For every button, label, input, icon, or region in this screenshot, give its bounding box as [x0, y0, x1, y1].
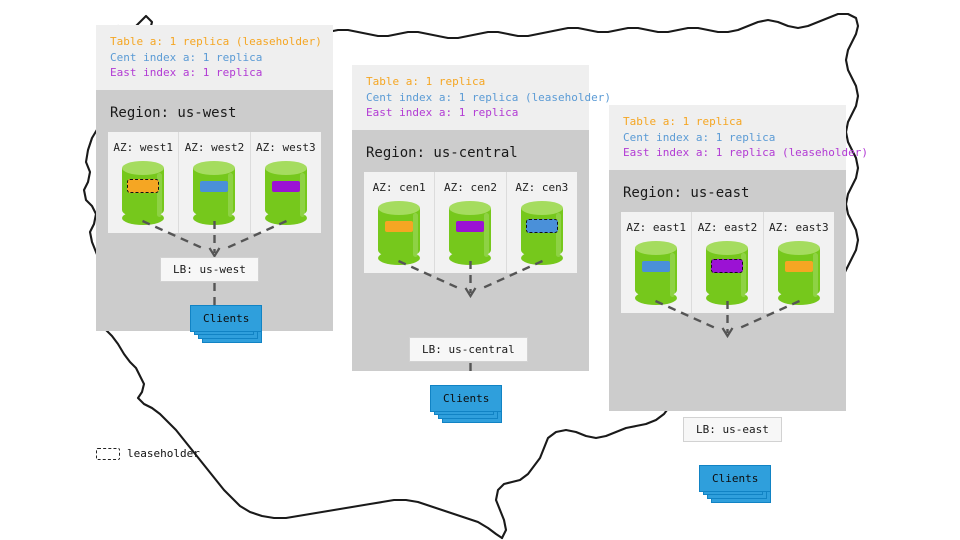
replica-chip-table_a[interactable]	[385, 221, 413, 232]
cylinder-shine	[413, 213, 418, 257]
az-cell-cen3[interactable]: AZ: cen3	[507, 172, 577, 273]
az-row-us-west: AZ: west1AZ: west2AZ: west3	[108, 132, 321, 233]
clients-stack-us-central[interactable]: Clients	[430, 385, 502, 412]
region-title-us-east: Region: us-east	[609, 170, 846, 212]
region-replica-summary-us-east: Table a: 1 replicaCent index a: 1 replic…	[609, 105, 846, 170]
cylinder-shine	[484, 213, 489, 257]
replica-line-cent_index: Cent index a: 1 replica	[623, 130, 834, 146]
az-row-us-central: AZ: cen1AZ: cen2AZ: cen3	[364, 172, 577, 273]
load-balancer-us-west[interactable]: LB: us-west	[160, 257, 259, 282]
map-legend: leaseholder	[96, 447, 200, 460]
region-replica-summary-us-central: Table a: 1 replicaCent index a: 1 replic…	[352, 65, 589, 130]
replica-line-table_a: Table a: 1 replica (leaseholder)	[110, 34, 321, 50]
az-label: AZ: east3	[769, 221, 829, 234]
region-title-us-west: Region: us-west	[96, 90, 333, 132]
clients-stack-us-east[interactable]: Clients	[699, 465, 771, 492]
az-label: AZ: east2	[698, 221, 758, 234]
cylinder-shine	[670, 253, 675, 297]
node-cylinder-icon[interactable]	[265, 161, 307, 223]
diagram-canvas: leaseholder Table a: 1 replica (leasehol…	[0, 0, 960, 540]
az-label: AZ: cen1	[373, 181, 426, 194]
region-panel-us-east: Table a: 1 replicaCent index a: 1 replic…	[609, 105, 846, 411]
map-legend-label: leaseholder	[127, 447, 200, 460]
replica-chip-table_a-leaseholder[interactable]	[127, 179, 159, 193]
node-cylinder-icon[interactable]	[449, 201, 491, 263]
az-label: AZ: west1	[113, 141, 173, 154]
clients-label[interactable]: Clients	[430, 385, 502, 412]
node-cylinder-icon[interactable]	[635, 241, 677, 303]
replica-chip-cent_index-leaseholder[interactable]	[526, 219, 558, 233]
az-cell-west1[interactable]: AZ: west1	[108, 132, 179, 233]
cylinder-shine	[228, 173, 233, 217]
region-title-us-central: Region: us-central	[352, 130, 589, 172]
node-cylinder-icon[interactable]	[378, 201, 420, 263]
replica-line-east_index: East index a: 1 replica (leaseholder)	[623, 145, 834, 161]
az-label: AZ: west2	[185, 141, 245, 154]
replica-line-cent_index: Cent index a: 1 replica	[110, 50, 321, 66]
node-cylinder-icon[interactable]	[706, 241, 748, 303]
az-cell-cen1[interactable]: AZ: cen1	[364, 172, 435, 273]
replica-chip-east_index[interactable]	[272, 181, 300, 192]
region-panel-us-west: Table a: 1 replica (leaseholder)Cent ind…	[96, 25, 333, 331]
az-label: AZ: east1	[626, 221, 686, 234]
az-label: AZ: cen3	[515, 181, 568, 194]
replica-chip-east_index-leaseholder[interactable]	[711, 259, 743, 273]
node-cylinder-icon[interactable]	[778, 241, 820, 303]
replica-chip-east_index[interactable]	[456, 221, 484, 232]
replica-line-table_a: Table a: 1 replica	[623, 114, 834, 130]
node-cylinder-icon[interactable]	[122, 161, 164, 223]
load-balancer-us-central[interactable]: LB: us-central	[409, 337, 528, 362]
replica-chip-cent_index[interactable]	[642, 261, 670, 272]
region-panel-us-central: Table a: 1 replicaCent index a: 1 replic…	[352, 65, 589, 371]
replica-line-table_a: Table a: 1 replica	[366, 74, 577, 90]
node-cylinder-icon[interactable]	[521, 201, 563, 263]
az-cell-east2[interactable]: AZ: east2	[692, 212, 763, 313]
replica-line-east_index: East index a: 1 replica	[110, 65, 321, 81]
replica-line-east_index: East index a: 1 replica	[366, 105, 577, 121]
az-label: AZ: cen2	[444, 181, 497, 194]
cylinder-shine	[300, 173, 305, 217]
replica-line-cent_index: Cent index a: 1 replica (leaseholder)	[366, 90, 577, 106]
az-cell-west2[interactable]: AZ: west2	[179, 132, 250, 233]
az-cell-cen2[interactable]: AZ: cen2	[435, 172, 506, 273]
az-row-us-east: AZ: east1AZ: east2AZ: east3	[621, 212, 834, 313]
cylinder-shine	[813, 253, 818, 297]
az-cell-east1[interactable]: AZ: east1	[621, 212, 692, 313]
dashed-rect-icon	[96, 448, 120, 460]
az-label: AZ: west3	[256, 141, 316, 154]
az-cell-east3[interactable]: AZ: east3	[764, 212, 834, 313]
node-cylinder-icon[interactable]	[193, 161, 235, 223]
replica-chip-cent_index[interactable]	[200, 181, 228, 192]
replica-chip-table_a[interactable]	[785, 261, 813, 272]
clients-stack-us-west[interactable]: Clients	[190, 305, 262, 332]
clients-label[interactable]: Clients	[190, 305, 262, 332]
az-cell-west3[interactable]: AZ: west3	[251, 132, 321, 233]
load-balancer-us-east[interactable]: LB: us-east	[683, 417, 782, 442]
region-replica-summary-us-west: Table a: 1 replica (leaseholder)Cent ind…	[96, 25, 333, 90]
clients-label[interactable]: Clients	[699, 465, 771, 492]
